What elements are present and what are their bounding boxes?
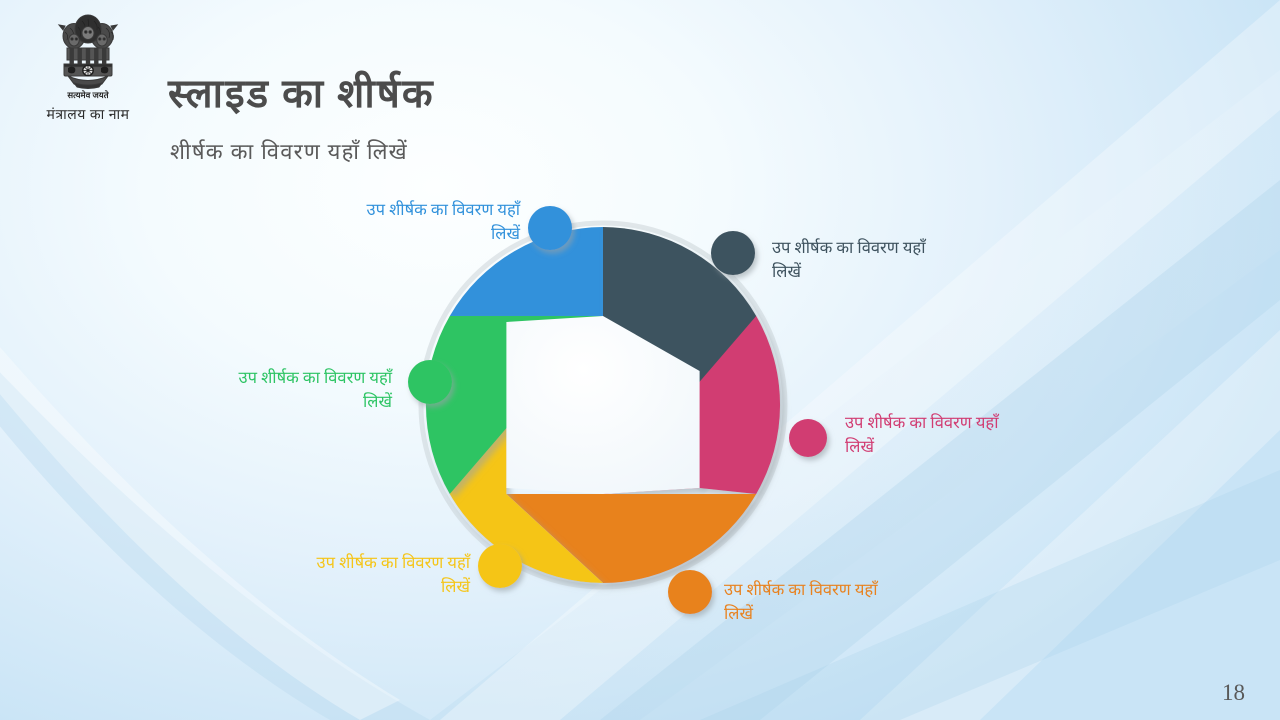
node-dot-slate[interactable] [711,231,755,275]
segment-label-green[interactable]: उप शीर्षक का विवरण यहाँ लिखें [122,366,392,415]
ministry-name: मंत्रालय का नाम [24,105,152,124]
node-dot-magenta[interactable] [789,419,827,457]
presentation-slide: सत्यमेव जयते मंत्रालय का नाम स्लाइड का श… [0,0,1280,720]
segment-label-slate[interactable]: उप शीर्षक का विवरण यहाँ लिखें [772,236,1052,285]
node-dot-green[interactable] [408,360,452,404]
emblem-motto: सत्यमेव जयते [66,90,109,100]
slide-title: स्लाइड का शीर्षक [168,74,435,114]
slide-number: 18 [1222,680,1245,706]
segment-label-orange[interactable]: उप शीर्षक का विवरण यहाँ लिखें [724,578,1004,627]
slide-subtitle: शीर्षक का विवरण यहाँ लिखें [170,141,408,163]
node-dot-blue[interactable] [528,206,572,250]
india-state-emblem-icon: सत्यमेव जयते [49,12,127,104]
ministry-emblem-block: सत्यमेव जयते मंत्रालय का नाम [24,12,152,124]
node-dot-yellow[interactable] [478,544,522,588]
segment-label-yellow[interactable]: उप शीर्षक का विवरण यहाँ लिखें [200,551,470,600]
segment-label-magenta[interactable]: उप शीर्षक का विवरण यहाँ लिखें [845,411,1125,460]
node-dot-orange[interactable] [668,570,712,614]
segment-label-blue[interactable]: उप शीर्षक का विवरण यहाँ लिखें [250,198,520,247]
